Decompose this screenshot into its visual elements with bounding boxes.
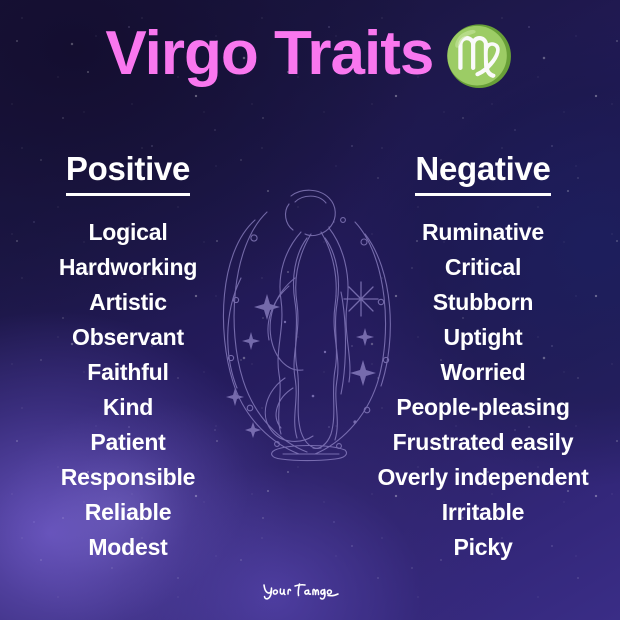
- negative-traits-column: Negative RuminativeCriticalStubbornUptig…: [364, 152, 602, 565]
- page-title: Virgo Traits♍: [0, 23, 620, 86]
- positive-trait-item: Kind: [18, 390, 238, 425]
- negative-traits-list: RuminativeCriticalStubbornUptightWorried…: [364, 215, 602, 565]
- virgo-symbol-icon: ♍: [443, 24, 514, 89]
- positive-column-heading: Positive: [66, 152, 190, 196]
- positive-trait-item: Hardworking: [18, 250, 238, 285]
- negative-trait-item: Irritable: [364, 495, 602, 530]
- positive-trait-item: Modest: [18, 530, 238, 565]
- positive-trait-item: Responsible: [18, 460, 238, 495]
- negative-column-heading: Negative: [415, 152, 550, 196]
- negative-trait-item: Stubborn: [364, 285, 602, 320]
- negative-trait-item: People-pleasing: [364, 390, 602, 425]
- negative-trait-item: Frustrated easily: [364, 425, 602, 460]
- poster-canvas: Virgo Traits♍: [0, 0, 620, 620]
- positive-trait-item: Artistic: [18, 285, 238, 320]
- positive-trait-item: Faithful: [18, 355, 238, 390]
- positive-traits-list: LogicalHardworkingArtisticObservantFaith…: [18, 215, 238, 565]
- negative-trait-item: Overly independent: [364, 460, 602, 495]
- negative-trait-item: Picky: [364, 530, 602, 565]
- positive-trait-item: Logical: [18, 215, 238, 250]
- footer: [0, 579, 620, 606]
- negative-trait-item: Critical: [364, 250, 602, 285]
- yourtango-logo: [260, 579, 360, 601]
- positive-trait-item: Reliable: [18, 495, 238, 530]
- negative-trait-item: Ruminative: [364, 215, 602, 250]
- page-title-text: Virgo Traits: [105, 19, 433, 88]
- positive-traits-column: Positive LogicalHardworkingArtisticObser…: [18, 152, 238, 565]
- negative-trait-item: Uptight: [364, 320, 602, 355]
- positive-trait-item: Observant: [18, 320, 238, 355]
- negative-trait-item: Worried: [364, 355, 602, 390]
- positive-trait-item: Patient: [18, 425, 238, 460]
